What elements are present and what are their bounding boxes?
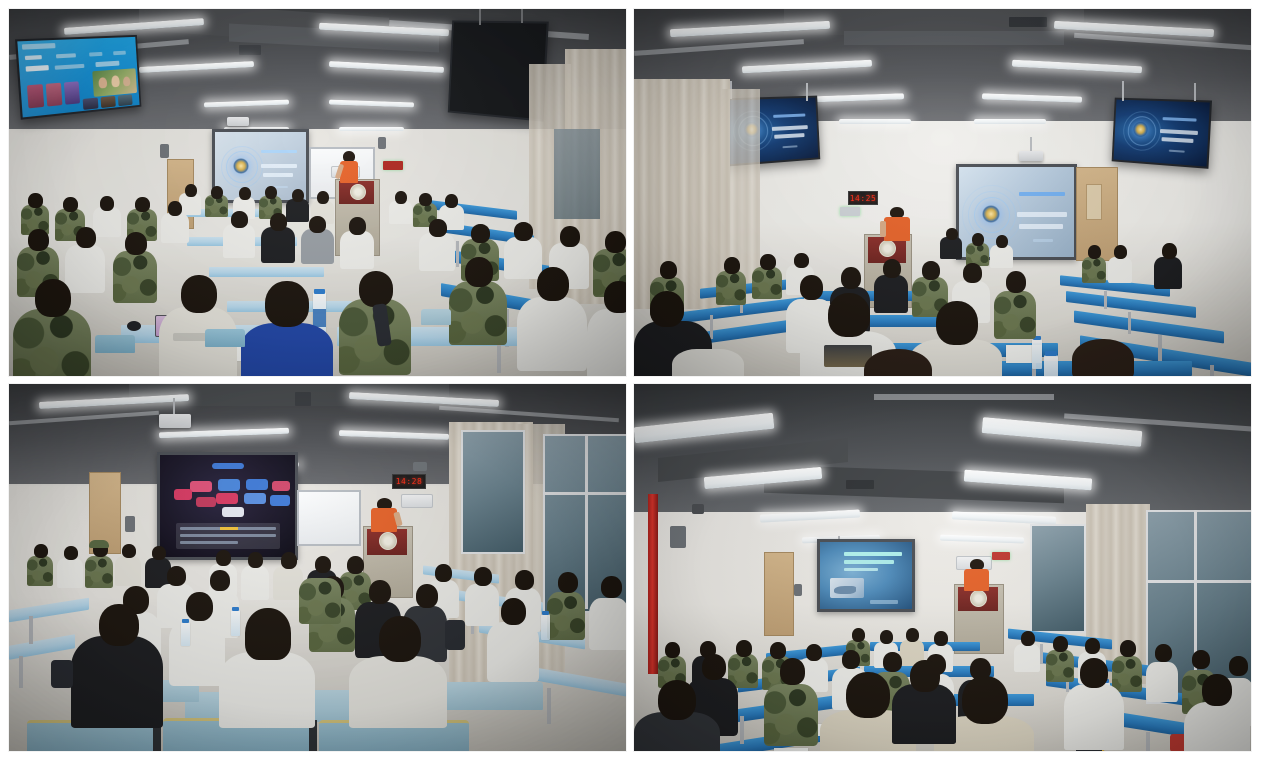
- wall-speaker: [670, 526, 686, 548]
- fire-standpipe: [648, 494, 658, 674]
- photo-panel-top-left[interactable]: Lecture classroom with students seated a…: [9, 9, 626, 376]
- ceiling-projector: [227, 117, 249, 126]
- photo-panel-top-right[interactable]: 14:25: [634, 9, 1251, 376]
- photo-panel-bottom-right[interactable]: Wide classroom with bright ceiling light…: [634, 384, 1251, 751]
- podium-emblem-icon: [379, 532, 397, 550]
- mindmap-node: [218, 479, 240, 491]
- water-bottle-front: [1044, 355, 1058, 376]
- projection-screen-main[interactable]: [157, 452, 298, 560]
- mindmap-node: [272, 481, 290, 491]
- mindmap-node: [244, 493, 266, 504]
- exit-sign: [383, 161, 403, 170]
- podium-emblem-icon: [879, 240, 896, 257]
- presenter: [884, 217, 910, 241]
- hanging-tv-right[interactable]: [1112, 98, 1212, 169]
- exit-sign: [992, 552, 1010, 560]
- led-clock-display: 14:28: [392, 474, 426, 489]
- presenter: [371, 508, 397, 532]
- ceiling-vent-icon: [239, 45, 261, 55]
- handbag: [445, 620, 465, 650]
- mindmap-node: [174, 489, 192, 500]
- projection-screen[interactable]: [817, 539, 915, 612]
- mindmap-node: [270, 495, 290, 506]
- water-bottle: [231, 610, 240, 636]
- mindmap-node: [246, 479, 268, 490]
- wall-tv-streaming[interactable]: [15, 35, 141, 120]
- podium-emblem-icon: [350, 184, 366, 200]
- ceiling-projector: [1019, 151, 1043, 161]
- presenter: [964, 569, 989, 591]
- exit-sign: [840, 207, 860, 216]
- air-conditioner: [401, 494, 433, 508]
- ceiling-projector: [159, 414, 191, 428]
- ceiling-speaker: [160, 144, 169, 158]
- mindmap-node: [222, 507, 244, 517]
- ceiling-speaker: [413, 462, 427, 471]
- podium-emblem-icon: [970, 590, 987, 607]
- wall-speaker: [378, 137, 386, 149]
- water-bottle: [1032, 339, 1042, 369]
- window: [461, 430, 525, 554]
- photo-collage: Lecture classroom with students seated a…: [0, 0, 1267, 760]
- classroom-door[interactable]: [764, 552, 794, 636]
- led-clock: 14:25: [848, 191, 878, 205]
- photo-panel-bottom-left[interactable]: 14:28: [9, 384, 626, 751]
- mindmap-node: [196, 497, 216, 507]
- mindmap-node: [190, 481, 212, 492]
- window: [1030, 524, 1086, 633]
- mindmap-node: [216, 493, 238, 504]
- whiteboard: [297, 490, 361, 546]
